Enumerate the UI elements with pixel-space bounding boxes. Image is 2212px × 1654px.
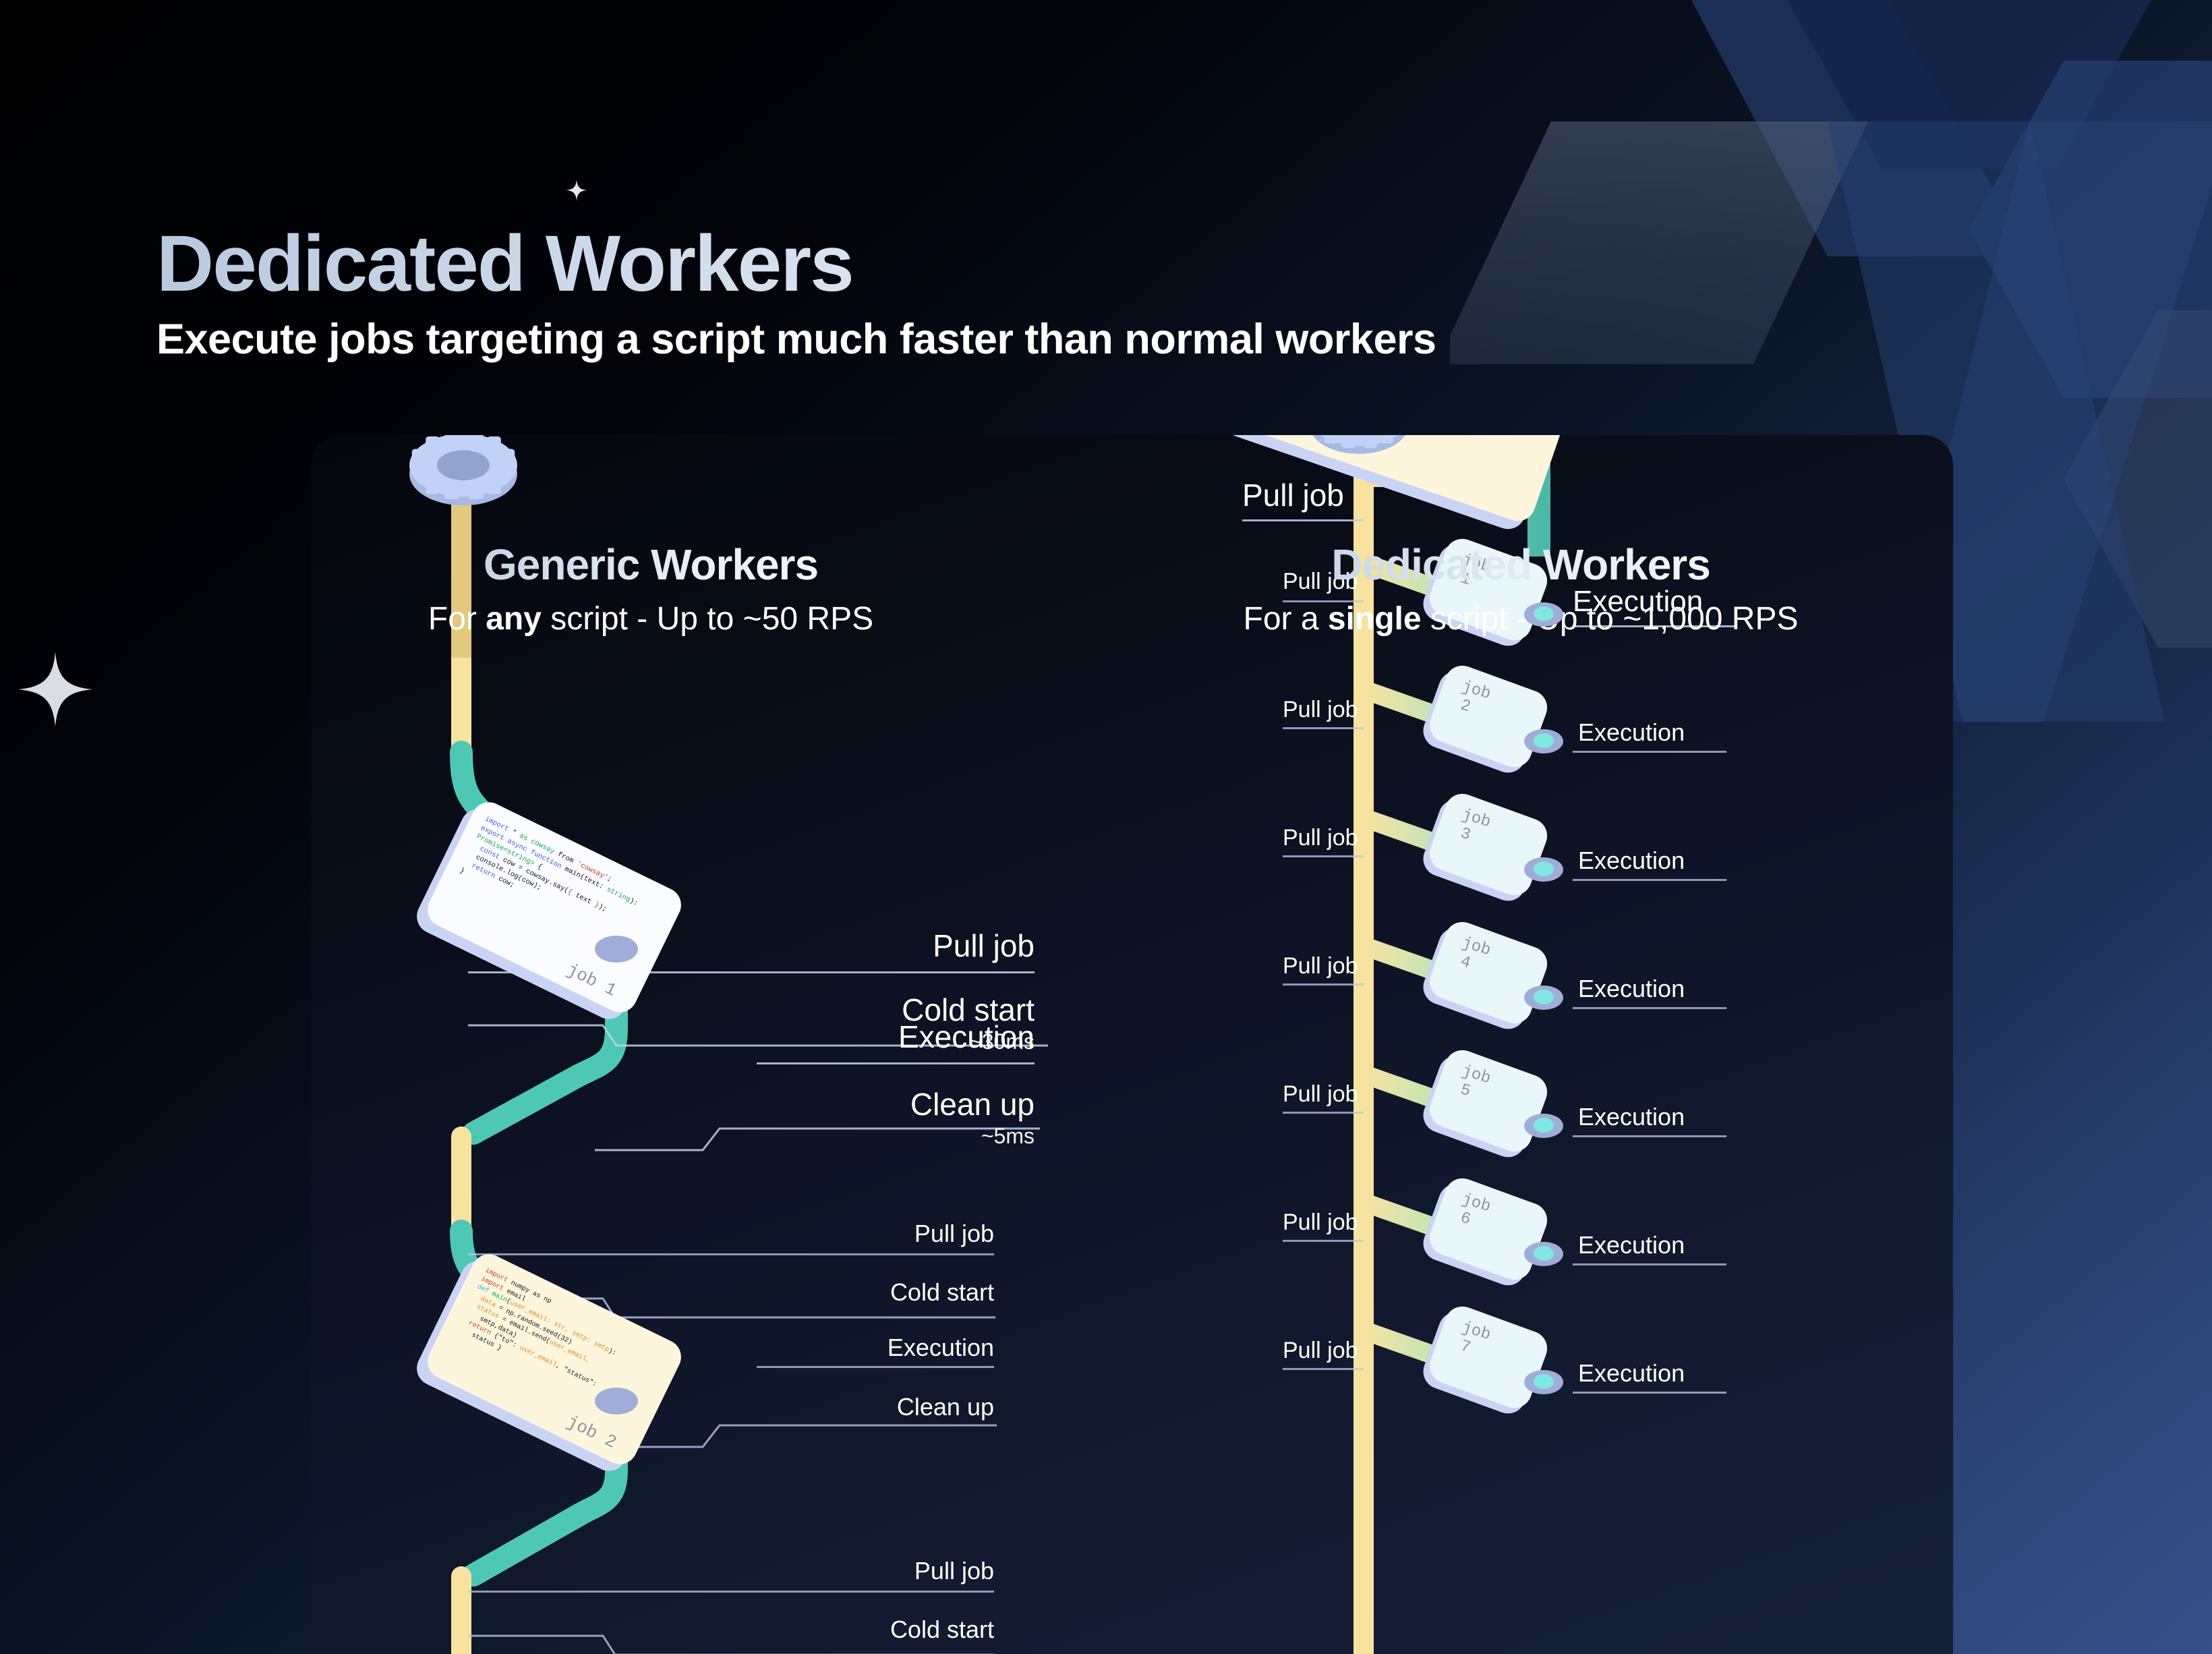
execution-node-core (1534, 733, 1554, 748)
flow-label: Cold start (784, 1616, 994, 1644)
job-chip-tag: job3 (1454, 806, 1492, 849)
execution-node-core (1534, 606, 1554, 621)
job-chip-tag: job5 (1454, 1062, 1492, 1106)
execution-node-core (1534, 1118, 1554, 1133)
flow-label: Clean up (784, 1393, 994, 1421)
job-chip-tag: job6 (1454, 1191, 1492, 1234)
execution-node (595, 1388, 638, 1415)
execution-node-core (1534, 1374, 1554, 1389)
column-header-dedicated: Dedicated Workers For a single script - … (1167, 540, 1875, 637)
pull-job-label: Pull job (1283, 1209, 1358, 1236)
execution-node-core (1534, 861, 1554, 876)
column-header-generic: Generic Workers For any script - Up to ~… (357, 540, 944, 637)
flow-label: Execution (784, 1019, 1035, 1055)
job-chip-tag: job2 (1454, 678, 1492, 721)
flow-label: Cold start (784, 1278, 994, 1307)
page-subtitle: Execute jobs targeting a script much fas… (156, 315, 1910, 364)
execution-label: Execution (1578, 847, 1685, 875)
execution-node (595, 936, 638, 963)
pull-job-label: Pull job (1283, 825, 1358, 851)
pull-job-label: Pull job (1283, 1338, 1358, 1364)
flow-label: Execution (784, 1334, 994, 1362)
execution-label: Execution (1578, 1359, 1685, 1388)
column-subtitle: For a single script - Up to ~1,000 RPS (1167, 600, 1875, 637)
column-subtitle: For any script - Up to ~50 RPS (357, 600, 944, 637)
page-title: Dedicated Workers (156, 223, 1910, 306)
column-title: Generic Workers (357, 540, 944, 590)
execution-node-core (1534, 1246, 1554, 1261)
pull-job-label-main: Pull job (1242, 477, 1364, 513)
execution-label: Execution (1578, 1103, 1685, 1131)
flow-label: Clean up ~5ms (784, 1086, 1035, 1149)
pull-job-label: Pull job (1283, 953, 1358, 979)
job-chip-tag: job7 (1454, 1319, 1492, 1362)
pull-job-label: Pull job (1283, 697, 1358, 723)
job-chip-tag: job4 (1454, 934, 1492, 977)
column-title: Dedicated Workers (1167, 540, 1875, 590)
gear-icon (401, 435, 526, 525)
execution-label: Execution (1578, 1231, 1685, 1259)
execution-label: Execution (1578, 718, 1685, 747)
execution-node-core (1534, 990, 1554, 1004)
pull-job-label: Pull job (1283, 1081, 1358, 1108)
gear-icon (1302, 435, 1416, 472)
execution-label: Execution (1578, 975, 1685, 1003)
header: Dedicated Workers Execute jobs targeting… (156, 223, 1910, 364)
